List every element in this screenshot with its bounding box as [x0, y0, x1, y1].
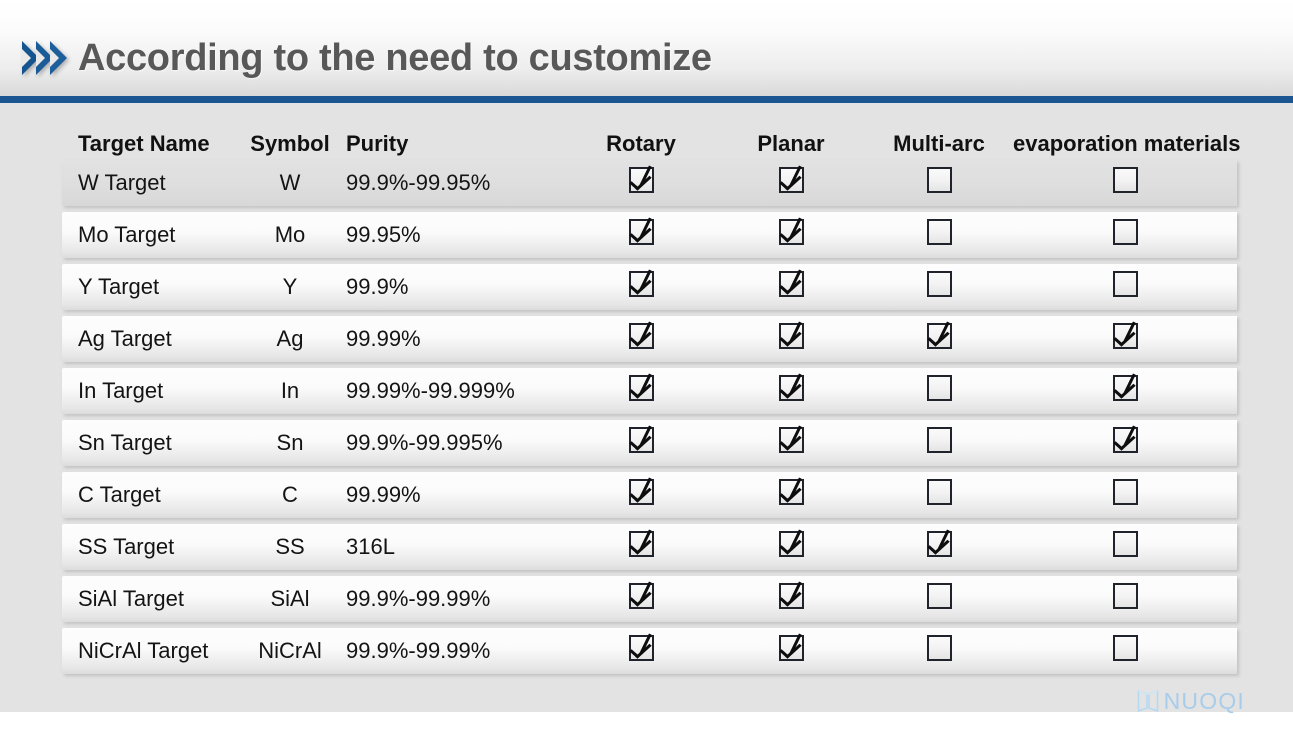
- checkbox-checked-icon-rotary[interactable]: [629, 583, 654, 609]
- column-header-planar: Planar: [717, 131, 865, 157]
- cell-target-name: In Target: [62, 378, 240, 404]
- cell-planar: [717, 167, 865, 199]
- checkbox-checked-icon-planar[interactable]: [779, 219, 804, 245]
- cell-target-name: C Target: [62, 482, 240, 508]
- column-header-multi-arc: Multi-arc: [865, 131, 1013, 157]
- checkbox-checked-icon-rotary[interactable]: [629, 375, 654, 401]
- cell-symbol: NiCrAl: [240, 638, 340, 664]
- table-row[interactable]: C TargetC99.99%: [62, 472, 1237, 518]
- cell-symbol: Sn: [240, 430, 340, 456]
- cell-symbol: C: [240, 482, 340, 508]
- cell-rotary: [565, 635, 717, 667]
- cell-target-name: Sn Target: [62, 430, 240, 456]
- checkbox-unchecked-icon-multi-arc[interactable]: [927, 635, 952, 661]
- cell-planar: [717, 427, 865, 459]
- checkbox-wrap: [565, 479, 717, 505]
- cell-planar: [717, 375, 865, 407]
- checkbox-wrap: [717, 375, 865, 401]
- checkbox-wrap: [1013, 323, 1237, 349]
- checkbox-wrap: [717, 219, 865, 245]
- checkbox-checked-icon-planar[interactable]: [779, 323, 804, 349]
- table-row[interactable]: SS TargetSS316L: [62, 524, 1237, 570]
- table-row[interactable]: SiAl TargetSiAl99.9%-99.99%: [62, 576, 1237, 622]
- cell-symbol: SS: [240, 534, 340, 560]
- table-body: W TargetW99.9%-99.95%Mo TargetMo99.95%Y …: [62, 160, 1237, 674]
- cell-symbol: Mo: [240, 222, 340, 248]
- cell-multi-arc: [865, 479, 1013, 511]
- cell-target-name: Mo Target: [62, 222, 240, 248]
- checkbox-wrap: [717, 271, 865, 297]
- checkbox-wrap: [565, 427, 717, 453]
- table-row[interactable]: Sn TargetSn99.9%-99.995%: [62, 420, 1237, 466]
- checkbox-unchecked-icon-evaporation-materials[interactable]: [1113, 583, 1138, 609]
- cell-evaporation-materials: [1013, 479, 1237, 511]
- cell-evaporation-materials: [1013, 635, 1237, 667]
- checkbox-checked-icon-planar[interactable]: [779, 167, 804, 193]
- cell-purity: 99.99%-99.999%: [340, 378, 565, 404]
- checkbox-checked-icon-planar[interactable]: [779, 479, 804, 505]
- cell-purity: 99.99%: [340, 326, 565, 352]
- triple-chevron-right-icon: [22, 35, 64, 81]
- cell-evaporation-materials: [1013, 167, 1237, 199]
- checkbox-checked-icon-planar[interactable]: [779, 271, 804, 297]
- cell-symbol: Y: [240, 274, 340, 300]
- cell-symbol: W: [240, 170, 340, 196]
- cell-evaporation-materials: [1013, 583, 1237, 615]
- cell-purity: 99.9%-99.99%: [340, 638, 565, 664]
- checkbox-wrap: [717, 323, 865, 349]
- cell-rotary: [565, 375, 717, 407]
- cell-planar: [717, 635, 865, 667]
- cell-target-name: SS Target: [62, 534, 240, 560]
- checkbox-unchecked-icon-evaporation-materials[interactable]: [1113, 635, 1138, 661]
- checkbox-wrap: [565, 375, 717, 401]
- table-row[interactable]: Y TargetY99.9%: [62, 264, 1237, 310]
- checkbox-unchecked-icon-multi-arc[interactable]: [927, 219, 952, 245]
- cell-multi-arc: [865, 323, 1013, 355]
- column-header-target-name: Target Name: [62, 131, 240, 157]
- checkbox-wrap: [1013, 375, 1237, 401]
- cell-rotary: [565, 531, 717, 563]
- checkbox-wrap: [565, 531, 717, 557]
- cell-purity: 99.9%-99.995%: [340, 430, 565, 456]
- checkbox-wrap: [717, 479, 865, 505]
- checkbox-wrap: [865, 427, 1013, 453]
- checkbox-wrap: [865, 167, 1013, 193]
- checkbox-wrap: [565, 635, 717, 661]
- cell-purity: 99.9%: [340, 274, 565, 300]
- checkbox-wrap: [717, 167, 865, 193]
- checkbox-wrap: [565, 167, 717, 193]
- cell-target-name: NiCrAl Target: [62, 638, 240, 664]
- cell-rotary: [565, 219, 717, 251]
- checkbox-unchecked-icon-multi-arc[interactable]: [927, 167, 952, 193]
- checkbox-checked-icon-multi-arc[interactable]: [927, 323, 952, 349]
- checkbox-wrap: [1013, 531, 1237, 557]
- cell-evaporation-materials: [1013, 375, 1237, 407]
- cell-planar: [717, 583, 865, 615]
- checkbox-unchecked-icon-multi-arc[interactable]: [927, 427, 952, 453]
- checkbox-wrap: [1013, 167, 1237, 193]
- checkbox-wrap: [1013, 479, 1237, 505]
- cell-target-name: Ag Target: [62, 326, 240, 352]
- cell-multi-arc: [865, 531, 1013, 563]
- footer-band: [0, 712, 1293, 730]
- checkbox-unchecked-icon-multi-arc[interactable]: [927, 583, 952, 609]
- brand-logo: NUOQI: [1137, 688, 1245, 714]
- checkbox-unchecked-icon-multi-arc[interactable]: [927, 479, 952, 505]
- cell-purity: 99.95%: [340, 222, 565, 248]
- cell-symbol: SiAl: [240, 586, 340, 612]
- cell-rotary: [565, 271, 717, 303]
- cell-symbol: In: [240, 378, 340, 404]
- checkbox-unchecked-icon-evaporation-materials[interactable]: [1113, 531, 1138, 557]
- cell-rotary: [565, 427, 717, 459]
- checkbox-checked-icon-planar[interactable]: [779, 427, 804, 453]
- checkbox-checked-icon-rotary[interactable]: [629, 635, 654, 661]
- cell-planar: [717, 531, 865, 563]
- cell-rotary: [565, 323, 717, 355]
- checkbox-checked-icon-rotary[interactable]: [629, 427, 654, 453]
- checkbox-wrap: [1013, 583, 1237, 609]
- cell-purity: 99.9%-99.95%: [340, 170, 565, 196]
- cell-multi-arc: [865, 375, 1013, 407]
- table-header-row: Target Name Symbol Purity Rotary Planar …: [62, 118, 1237, 160]
- cell-rotary: [565, 583, 717, 615]
- table-row[interactable]: Ag TargetAg99.99%: [62, 316, 1237, 362]
- checkbox-unchecked-icon-multi-arc[interactable]: [927, 271, 952, 297]
- checkbox-wrap: [565, 271, 717, 297]
- checkbox-unchecked-icon-evaporation-materials[interactable]: [1113, 271, 1138, 297]
- checkbox-wrap: [565, 219, 717, 245]
- checkbox-wrap: [865, 635, 1013, 661]
- cell-evaporation-materials: [1013, 531, 1237, 563]
- specification-table: Target Name Symbol Purity Rotary Planar …: [62, 118, 1237, 680]
- checkbox-checked-icon-rotary[interactable]: [629, 271, 654, 297]
- cell-evaporation-materials: [1013, 219, 1237, 251]
- header-accent-rule: [0, 96, 1293, 103]
- checkbox-checked-icon-planar[interactable]: [779, 531, 804, 557]
- checkbox-wrap: [865, 583, 1013, 609]
- cell-purity: 99.9%-99.99%: [340, 586, 565, 612]
- checkbox-wrap: [565, 323, 717, 349]
- cell-multi-arc: [865, 635, 1013, 667]
- slide-header-banner: According to the need to customize: [0, 0, 1293, 96]
- checkbox-wrap: [717, 635, 865, 661]
- column-header-purity: Purity: [340, 131, 565, 157]
- cell-planar: [717, 219, 865, 251]
- checkbox-checked-icon-evaporation-materials[interactable]: [1113, 427, 1138, 453]
- checkbox-checked-icon-planar[interactable]: [779, 635, 804, 661]
- slide-title-group: According to the need to customize: [22, 30, 712, 86]
- checkbox-unchecked-icon-evaporation-materials[interactable]: [1113, 167, 1138, 193]
- cell-multi-arc: [865, 427, 1013, 459]
- checkbox-checked-icon-multi-arc[interactable]: [927, 531, 952, 557]
- cell-rotary: [565, 167, 717, 199]
- checkbox-checked-icon-planar[interactable]: [779, 375, 804, 401]
- cell-planar: [717, 323, 865, 355]
- cell-multi-arc: [865, 583, 1013, 615]
- checkbox-wrap: [865, 375, 1013, 401]
- checkbox-wrap: [717, 531, 865, 557]
- checkbox-wrap: [865, 219, 1013, 245]
- checkbox-wrap: [865, 271, 1013, 297]
- column-header-evaporation-materials: evaporation materials: [1013, 131, 1237, 157]
- checkbox-wrap: [717, 427, 865, 453]
- column-header-rotary: Rotary: [565, 131, 717, 157]
- cell-rotary: [565, 479, 717, 511]
- checkbox-checked-icon-rotary[interactable]: [629, 167, 654, 193]
- cell-multi-arc: [865, 271, 1013, 303]
- checkbox-unchecked-icon-evaporation-materials[interactable]: [1113, 219, 1138, 245]
- cell-evaporation-materials: [1013, 271, 1237, 303]
- checkbox-checked-icon-rotary[interactable]: [629, 479, 654, 505]
- cell-planar: [717, 479, 865, 511]
- checkbox-unchecked-icon-multi-arc[interactable]: [927, 375, 952, 401]
- cell-target-name: W Target: [62, 170, 240, 196]
- checkbox-wrap: [1013, 219, 1237, 245]
- checkbox-checked-icon-evaporation-materials[interactable]: [1113, 375, 1138, 401]
- checkbox-wrap: [717, 583, 865, 609]
- cell-purity: 316L: [340, 534, 565, 560]
- checkbox-unchecked-icon-evaporation-materials[interactable]: [1113, 479, 1138, 505]
- cell-evaporation-materials: [1013, 323, 1237, 355]
- checkbox-wrap: [865, 323, 1013, 349]
- table-row[interactable]: In TargetIn99.99%-99.999%: [62, 368, 1237, 414]
- table-row[interactable]: NiCrAl TargetNiCrAl99.9%-99.99%: [62, 628, 1237, 674]
- cell-purity: 99.99%: [340, 482, 565, 508]
- cell-multi-arc: [865, 167, 1013, 199]
- checkbox-checked-icon-rotary[interactable]: [629, 323, 654, 349]
- cell-multi-arc: [865, 219, 1013, 251]
- table-row[interactable]: W TargetW99.9%-99.95%: [62, 160, 1237, 206]
- checkbox-checked-icon-rotary[interactable]: [629, 531, 654, 557]
- cell-target-name: Y Target: [62, 274, 240, 300]
- open-book-bracket-icon: [1137, 689, 1159, 713]
- page-title: According to the need to customize: [78, 37, 712, 80]
- checkbox-checked-icon-evaporation-materials[interactable]: [1113, 323, 1138, 349]
- checkbox-wrap: [1013, 635, 1237, 661]
- table-row[interactable]: Mo TargetMo99.95%: [62, 212, 1237, 258]
- checkbox-wrap: [865, 531, 1013, 557]
- checkbox-wrap: [865, 479, 1013, 505]
- cell-planar: [717, 271, 865, 303]
- cell-symbol: Ag: [240, 326, 340, 352]
- checkbox-wrap: [1013, 427, 1237, 453]
- checkbox-checked-icon-rotary[interactable]: [629, 219, 654, 245]
- cell-target-name: SiAl Target: [62, 586, 240, 612]
- column-header-symbol: Symbol: [240, 131, 340, 157]
- cell-evaporation-materials: [1013, 427, 1237, 459]
- brand-logo-text: NUOQI: [1164, 688, 1245, 715]
- checkbox-wrap: [565, 583, 717, 609]
- checkbox-wrap: [1013, 271, 1237, 297]
- checkbox-checked-icon-planar[interactable]: [779, 583, 804, 609]
